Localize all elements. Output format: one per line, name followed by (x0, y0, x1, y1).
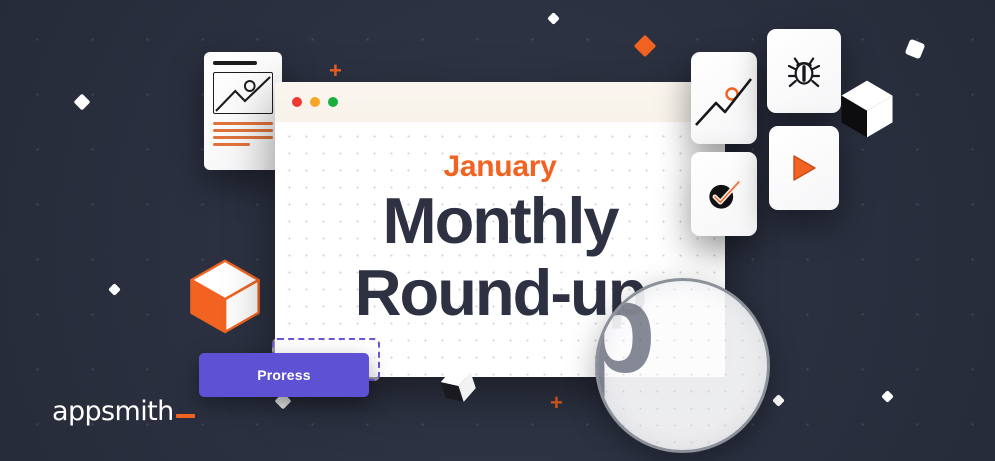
decor-diamond (108, 283, 121, 296)
window-close-button[interactable] (292, 97, 302, 107)
document-image-icon (213, 72, 273, 114)
check-card (691, 152, 757, 236)
decor-diamond (74, 94, 91, 111)
bug-card (767, 29, 841, 113)
hero-title-line1: Monthly (275, 188, 725, 253)
decor-diamond (881, 390, 894, 403)
window-minimize-button[interactable] (310, 97, 320, 107)
process-button[interactable]: Proress (199, 353, 369, 397)
document-text-line (213, 122, 273, 125)
document-card (204, 52, 282, 170)
play-card (769, 126, 839, 210)
window-title-bar (275, 82, 725, 122)
document-text-line (213, 143, 250, 146)
line-chart-icon (695, 67, 753, 129)
banner-stage: + + (0, 0, 995, 461)
document-text-line (213, 129, 273, 132)
document-title-bar (213, 61, 257, 65)
orange-cube-icon (185, 256, 265, 341)
hero-eyebrow: January (275, 150, 725, 184)
document-text-line (213, 136, 273, 139)
window-maximize-button[interactable] (328, 97, 338, 107)
lens-logo-glyph: p (595, 278, 649, 393)
decor-diamond (772, 394, 785, 407)
wordmark-text: appsmith (52, 396, 174, 427)
appsmith-wordmark: appsmith (52, 396, 195, 427)
check-circle-icon (702, 172, 746, 216)
plus-icon: + (329, 60, 342, 82)
play-icon (791, 154, 817, 182)
magnifier-lens: p (595, 278, 770, 453)
decor-diamond (547, 12, 560, 25)
decor-diamond-orange (634, 35, 657, 58)
black-cube-icon (838, 78, 896, 145)
chart-card (691, 52, 757, 144)
decor-square (905, 39, 926, 60)
bug-icon (784, 51, 824, 91)
document-card-body (204, 52, 282, 170)
plus-icon: + (550, 392, 563, 414)
wordmark-underscore (176, 414, 195, 418)
